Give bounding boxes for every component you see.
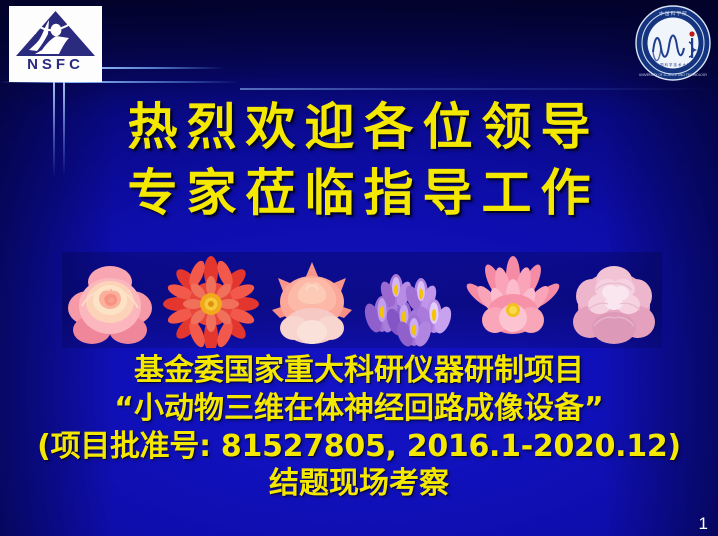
- flower-red-dahlia: [163, 256, 259, 348]
- flower-coral-rose: [264, 256, 360, 348]
- decorative-line-horizontal-1: [100, 67, 225, 69]
- svg-text:中 国 科 学 技 术 大 学: 中 国 科 学 技 术 大 学: [656, 62, 691, 67]
- caption-line-1: 基金委国家重大科研仪器研制项目: [0, 352, 718, 390]
- headline-line-2: 专家莅临指导工作: [0, 160, 718, 226]
- project-caption: 基金委国家重大科研仪器研制项目 “小动物三维在体神经回路成像设备” (项目批准号…: [0, 352, 718, 503]
- headline-line-1: 热烈欢迎各位领导: [0, 94, 718, 160]
- caption-line-3: (项目批准号: 81527805, 2016.1-2020.12): [0, 428, 718, 466]
- flower-peach-rose: [62, 256, 158, 348]
- university-seal-logo: 中 国 科 学 院 UNIVERSITY OF SCIENCE AND TECH…: [634, 4, 712, 82]
- caption-line-2: “小动物三维在体神经回路成像设备”: [0, 390, 718, 428]
- presentation-slide: NSFC 中 国 科 学 院 UNIVERSITY OF SCIENCE AND…: [0, 0, 718, 536]
- decorative-line-horizontal-3: [240, 88, 718, 90]
- nsfc-logo-text: NSFC: [9, 56, 102, 73]
- nsfc-triangle-icon: [15, 10, 96, 58]
- caption-line-4: 结题现场考察: [0, 465, 718, 503]
- flower-pink-water-lily: [465, 256, 561, 348]
- page-title: 热烈欢迎各位领导 专家莅临指导工作: [0, 94, 718, 226]
- flower-pink-carnation: [566, 256, 662, 348]
- page-number: 1: [699, 514, 708, 534]
- flower-decoration-strip: [62, 252, 662, 348]
- svg-text:UNIVERSITY OF SCIENCE AND TECH: UNIVERSITY OF SCIENCE AND TECHNOLOGY: [639, 73, 707, 77]
- svg-text:中 国 科 学 院: 中 国 科 学 院: [659, 10, 687, 17]
- flower-purple-crocus: [364, 256, 460, 348]
- nsfc-logo: NSFC: [9, 6, 102, 82]
